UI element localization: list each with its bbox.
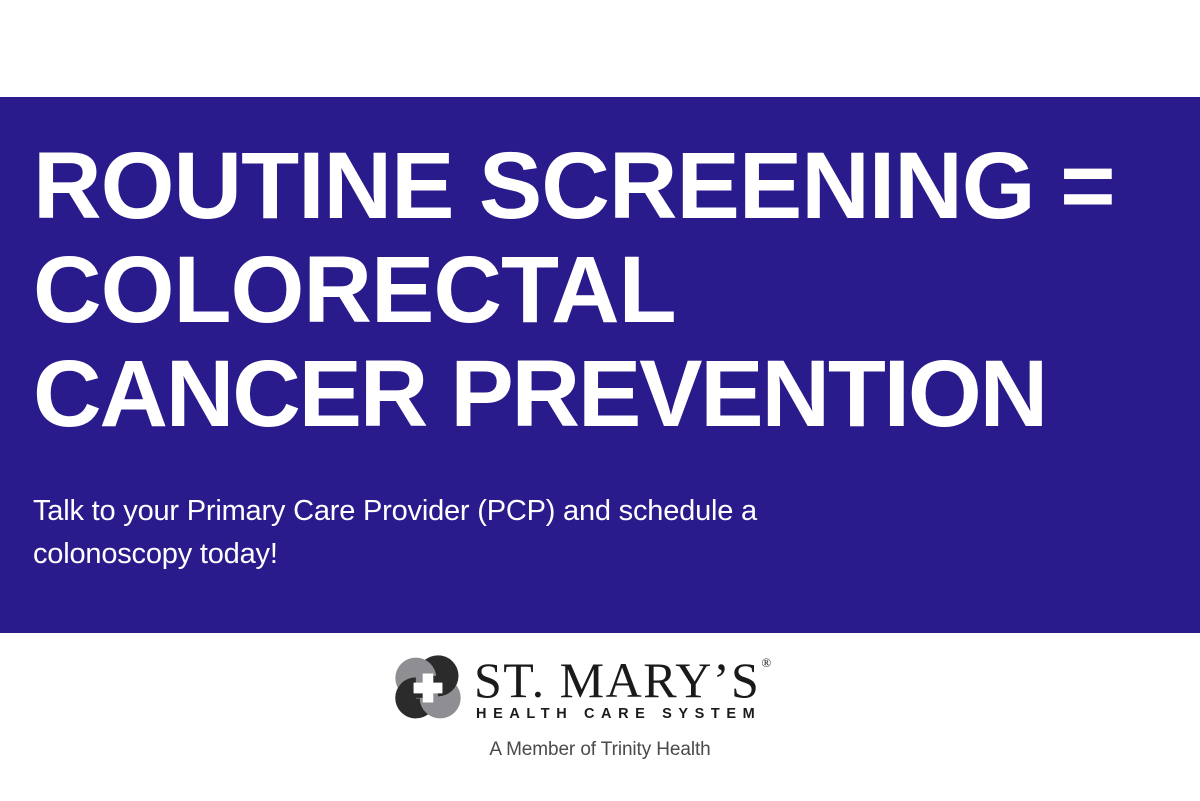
st-marys-pinwheel-icon (390, 650, 466, 726)
logo-top-row: ST. MARY’S® HEALTH CARE SYSTEM (390, 650, 810, 726)
logo-footer: ST. MARY’S® HEALTH CARE SYSTEM A Member … (0, 633, 1200, 801)
headline-line-1: ROUTINE SCREENING = (33, 139, 1180, 233)
subheadline-line-2: colonoscopy today! (33, 533, 933, 576)
st-marys-logo: ST. MARY’S® HEALTH CARE SYSTEM A Member … (390, 650, 810, 761)
poster-root: ROUTINE SCREENING = COLORECTAL CANCER PR… (0, 0, 1200, 801)
logo-sub-wordmark: HEALTH CARE SYSTEM (474, 706, 761, 722)
logo-wordmark-text: ST. MARY’S (474, 652, 760, 708)
logo-text-block: ST. MARY’S® HEALTH CARE SYSTEM (474, 655, 810, 723)
registered-trademark-icon: ® (761, 655, 771, 670)
announcement-banner: ROUTINE SCREENING = COLORECTAL CANCER PR… (0, 97, 1200, 633)
logo-wordmark: ST. MARY’S® (474, 652, 770, 708)
headline-line-3: CANCER PREVENTION (33, 347, 1180, 441)
logo-tagline: A Member of Trinity Health (390, 739, 810, 761)
subheadline: Talk to your Primary Care Provider (PCP)… (33, 490, 933, 575)
subheadline-line-1: Talk to your Primary Care Provider (PCP)… (33, 490, 933, 533)
headline-block: ROUTINE SCREENING = COLORECTAL CANCER PR… (33, 139, 1180, 441)
headline-line-2: COLORECTAL (33, 243, 1180, 337)
page-title: ROUTINE SCREENING = COLORECTAL CANCER PR… (33, 139, 1180, 441)
